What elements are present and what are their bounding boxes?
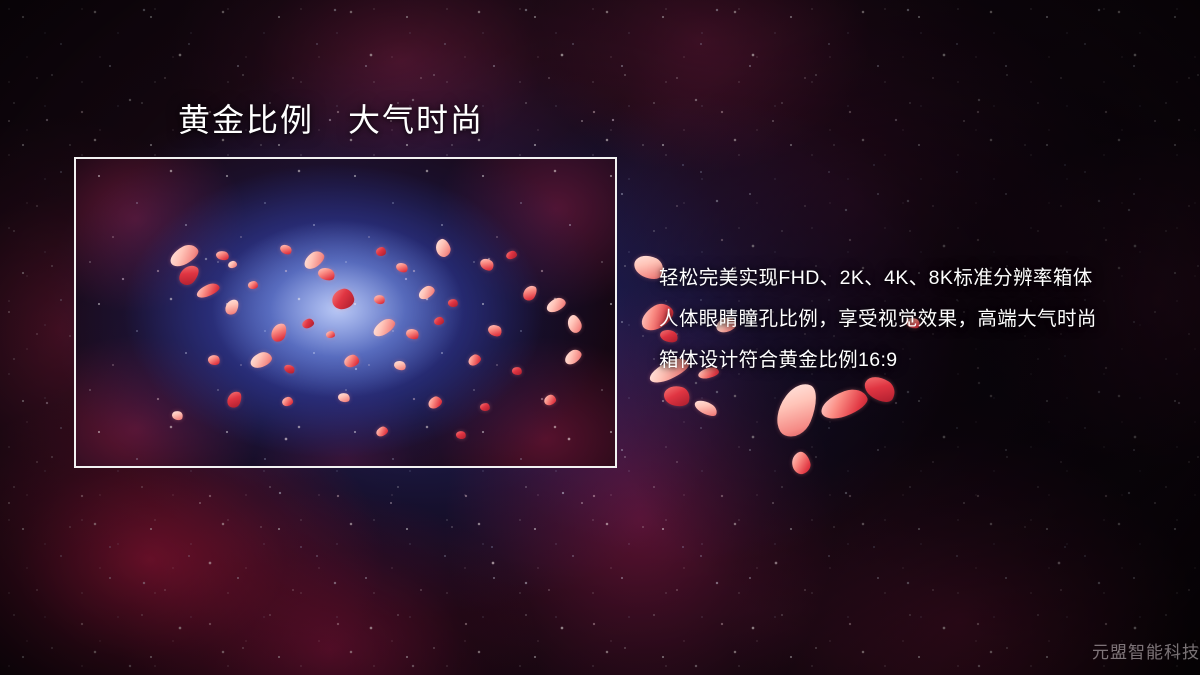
petal xyxy=(326,331,335,338)
petal xyxy=(376,247,386,256)
petal xyxy=(248,281,258,289)
page-title: 黄金比例 大气时尚 xyxy=(178,101,484,139)
watermark: 元盟智能科技 xyxy=(1092,638,1200,663)
body-text-block: 轻松完美实现FHD、2K、4K、8K标准分辨率箱体 人体眼睛瞳孔比例，享受视觉效… xyxy=(659,258,1179,381)
body-line-3: 箱体设计符合黄金比例16:9 xyxy=(659,340,1179,381)
framed-image xyxy=(74,157,617,468)
body-line-1: 轻松完美实现FHD、2K、4K、8K标准分辨率箱体 xyxy=(659,258,1179,299)
framed-image-nebula xyxy=(76,159,615,466)
presentation-slide: 黄金比例 大气时尚 轻松完美实现FHD、2K、4K、8K标准分辨率箱体 人体眼睛… xyxy=(0,0,1200,675)
body-line-2: 人体眼睛瞳孔比例，享受视觉效果，高端大气时尚 xyxy=(659,299,1179,340)
